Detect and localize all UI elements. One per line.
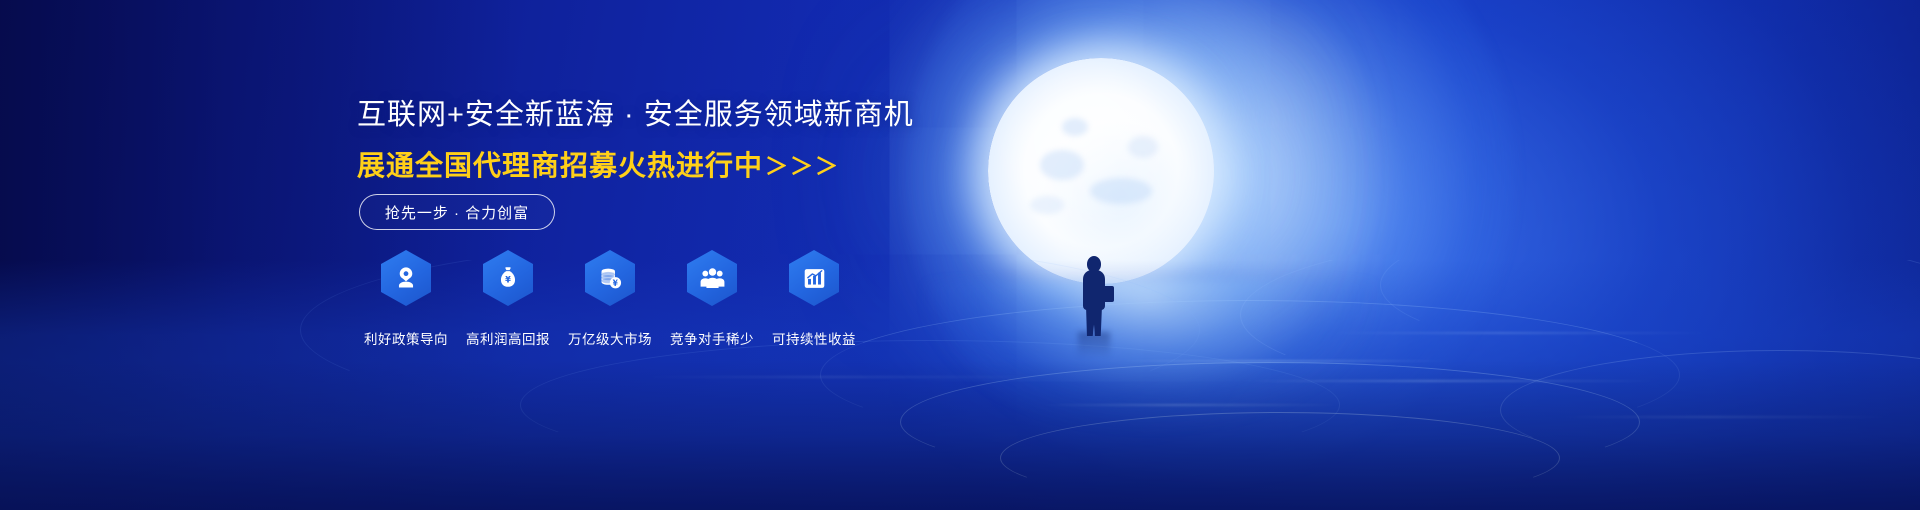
feature-label: 竞争对手稀少 bbox=[670, 328, 754, 348]
moon-crater bbox=[1090, 178, 1152, 204]
feature-item-profit[interactable]: 高利润高回报 bbox=[457, 250, 559, 348]
moon-crater bbox=[1062, 118, 1088, 136]
feature-item-policy[interactable]: 利好政策导向 bbox=[355, 250, 457, 348]
bottom-vignette-overlay bbox=[0, 360, 1920, 510]
water-streak bbox=[1560, 416, 1890, 418]
coin-stack-icon bbox=[585, 250, 635, 306]
location-pin-icon bbox=[381, 250, 431, 306]
promo-banner: 互联网+安全新蓝海 · 安全服务领域新商机 展通全国代理商招募火热进行中 ＞＞＞… bbox=[0, 0, 1920, 510]
feature-label: 万亿级大市场 bbox=[568, 328, 652, 348]
users-group-icon bbox=[687, 250, 737, 306]
moon-crater bbox=[1040, 150, 1084, 180]
chevron-right-icon: ＞＞＞ bbox=[765, 147, 840, 181]
cta-button-label: 抢先一步 · 合力创富 bbox=[385, 202, 529, 223]
wave-line bbox=[1500, 350, 1920, 470]
subline-text: 展通全国代理商招募火热进行中 bbox=[357, 144, 763, 184]
feature-item-market[interactable]: 万亿级大市场 bbox=[559, 250, 661, 348]
feature-label: 高利润高回报 bbox=[466, 328, 550, 348]
moon-crater bbox=[1030, 196, 1064, 214]
walking-person-icon bbox=[1074, 256, 1114, 334]
figure-body bbox=[1083, 270, 1105, 310]
figure-bag bbox=[1103, 286, 1114, 302]
money-bag-icon bbox=[483, 250, 533, 306]
moon-glow bbox=[905, 0, 1515, 480]
feature-list: 利好政策导向 高利润高回报 bbox=[355, 250, 865, 348]
bar-chart-icon bbox=[789, 250, 839, 306]
feature-item-competition[interactable]: 竞争对手稀少 bbox=[661, 250, 763, 348]
feature-label: 利好政策导向 bbox=[364, 328, 448, 348]
banner-subline: 展通全国代理商招募火热进行中 ＞＞＞ bbox=[357, 144, 840, 184]
moon-icon bbox=[988, 58, 1214, 284]
feature-item-revenue[interactable]: 可持续性收益 bbox=[763, 250, 865, 348]
banner-headline: 互联网+安全新蓝海 · 安全服务领域新商机 bbox=[357, 98, 914, 133]
figure-legs bbox=[1086, 306, 1102, 336]
moon-crater bbox=[1128, 136, 1158, 158]
banner-content: 互联网+安全新蓝海 · 安全服务领域新商机 展通全国代理商招募火热进行中 ＞＞＞… bbox=[355, 0, 915, 510]
cta-button[interactable]: 抢先一步 · 合力创富 bbox=[359, 194, 555, 230]
figure-reflection bbox=[1078, 332, 1110, 358]
feature-label: 可持续性收益 bbox=[772, 328, 856, 348]
